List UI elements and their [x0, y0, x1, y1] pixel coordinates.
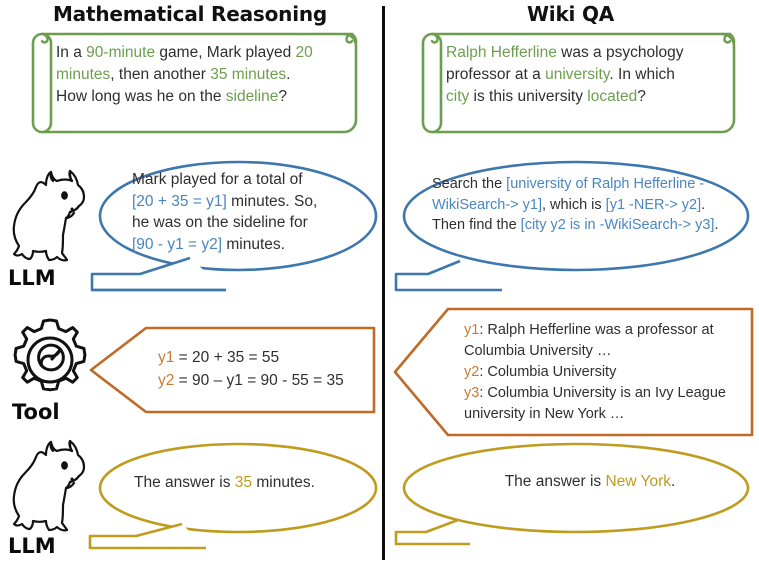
answer-right-segment-1: New York [606, 473, 671, 490]
plan-left-segment-4: minutes. [222, 236, 285, 253]
tool-right-line-1-segment-0: Columbia University … [464, 343, 611, 359]
llm-icon-label-top-left: LLM [8, 266, 56, 290]
question-scroll-right: Ralph Hefferline was a psychology profes… [412, 24, 744, 142]
llm-icon-label-bottom-left: LLM [8, 534, 56, 558]
tool-output-text-left: y1 = 20 + 35 = 55y2 = 90 – y1 = 90 - 55 … [158, 347, 372, 393]
plan-right-segment-6: . [714, 217, 718, 233]
speech-bubble-shape [392, 440, 754, 550]
figure-canvas: Mathematical Reasoning Wiki QA In a 90-m… [0, 0, 759, 567]
tool-left-line-1-segment-1: = 90 – y1 = 90 - 55 = 35 [174, 372, 343, 389]
question-right-segment-5: is this university [469, 88, 587, 105]
tool-right-line-1: Columbia University … [464, 341, 746, 362]
tool-right-line-2-segment-1: : Columbia University [479, 364, 616, 380]
question-left-segment-2: game, Mark played [155, 44, 295, 61]
answer-left-segment-1: 35 [235, 474, 252, 491]
plan-right-segment-3: [y1 -NER-> y2] [606, 197, 701, 213]
question-left-segment-5: minutes [56, 66, 110, 83]
question-text-left: In a 90-minute game, Mark played 20 minu… [56, 42, 356, 108]
answer-right-segment-0: The answer is [505, 473, 606, 490]
llm-icon-top-left: LLM [6, 168, 98, 298]
question-left-segment-9: How long was he on the [56, 88, 226, 105]
plan-left-segment-1: [20 + 35 = y1] [132, 193, 227, 210]
llm-answer-text-left: The answer is 35 minutes. [134, 473, 366, 494]
tool-right-line-2-segment-0: y2 [464, 364, 479, 380]
llm-answer-bubble-right: The answer is New York. [392, 440, 754, 550]
tool-right-line-4-segment-0: university in New York … [464, 406, 624, 422]
question-left-segment-0: In a [56, 44, 86, 61]
plan-right-segment-2: , which is [542, 197, 606, 213]
question-left-segment-10: sideline [226, 88, 279, 105]
tool-right-line-0: y1: Ralph Hefferline was a professor at [464, 320, 746, 341]
llm-answer-bubble-left: The answer is 35 minutes. [86, 440, 378, 550]
question-right-segment-4: city [446, 88, 469, 105]
question-left-segment-7: 35 minutes [210, 66, 286, 83]
question-right-segment-6: located [587, 88, 637, 105]
gear-wrench-icon [8, 318, 92, 402]
question-right-segment-0: Ralph Hefferline [446, 44, 557, 61]
tool-left-line-0: y1 = 20 + 35 = 55 [158, 347, 372, 370]
plan-left-segment-3: [90 - y1 = y2] [132, 236, 222, 253]
tool-right-line-4: university in New York … [464, 404, 746, 425]
tool-right-line-0-segment-1: : Ralph Hefferline was a professor at [479, 322, 713, 338]
tool-output-text-right: y1: Ralph Hefferline was a professor atC… [464, 320, 746, 424]
llama-icon [6, 438, 98, 540]
question-left-segment-1: 90-minute [86, 44, 155, 61]
column-title-right: Wiki QA [382, 2, 759, 26]
plan-right-segment-0: Search the [432, 176, 506, 192]
tool-output-box-left: y1 = 20 + 35 = 55y2 = 90 – y1 = 90 - 55 … [88, 325, 376, 415]
llama-icon [6, 168, 98, 270]
tool-right-line-3: y3: Columbia University is an Ivy League [464, 383, 746, 404]
tool-left-line-1: y2 = 90 – y1 = 90 - 55 = 35 [158, 370, 372, 393]
tool-right-line-3-segment-0: y3 [464, 385, 479, 401]
plan-right-segment-5: [city y2 is in -WikiSearch-> y3] [521, 217, 715, 233]
tool-left-line-0-segment-0: y1 [158, 349, 174, 366]
llm-plan-bubble-right: Search the [university of Ralph Hefferli… [392, 158, 754, 294]
tool-right-line-2: y2: Columbia University [464, 362, 746, 383]
tool-icon-label-left: Tool [12, 400, 60, 424]
column-divider [382, 6, 385, 560]
question-left-segment-6: , then another [110, 66, 210, 83]
llm-icon-bottom-left: LLM [6, 438, 98, 566]
llm-plan-text-left: Mark played for a total of [20 + 35 = y1… [132, 169, 368, 256]
tool-right-line-3-segment-1: : Columbia University is an Ivy League [479, 385, 726, 401]
plan-left-segment-0: Mark played for a total of [132, 171, 303, 188]
speech-bubble-shape [86, 440, 378, 550]
llm-plan-text-right: Search the [university of Ralph Hefferli… [432, 174, 744, 236]
question-left-segment-3: 20 [296, 44, 313, 61]
question-scroll-left: In a 90-minute game, Mark played 20 minu… [22, 24, 366, 142]
llm-plan-bubble-left: Mark played for a total of [20 + 35 = y1… [86, 158, 378, 294]
tool-left-line-1-segment-0: y2 [158, 372, 174, 389]
column-title-left: Mathematical Reasoning [0, 2, 380, 26]
llm-answer-text-right: The answer is New York. [440, 472, 740, 493]
answer-left-segment-0: The answer is [134, 474, 235, 491]
tool-right-line-0-segment-0: y1 [464, 322, 479, 338]
question-right-segment-7: ? [637, 88, 646, 105]
question-left-segment-8: . [286, 66, 290, 83]
tool-left-line-0-segment-1: = 20 + 35 = 55 [174, 349, 279, 366]
question-left-segment-11: ? [278, 88, 287, 105]
question-right-segment-2: university [545, 66, 609, 83]
question-text-right: Ralph Hefferline was a psychology profes… [446, 42, 736, 108]
answer-right-segment-2: . [671, 473, 675, 490]
tool-icon-left: Tool [8, 318, 100, 428]
answer-left-segment-2: minutes. [252, 474, 315, 491]
question-right-segment-3: . In which [609, 66, 674, 83]
tool-output-box-right: y1: Ralph Hefferline was a professor atC… [392, 306, 754, 438]
